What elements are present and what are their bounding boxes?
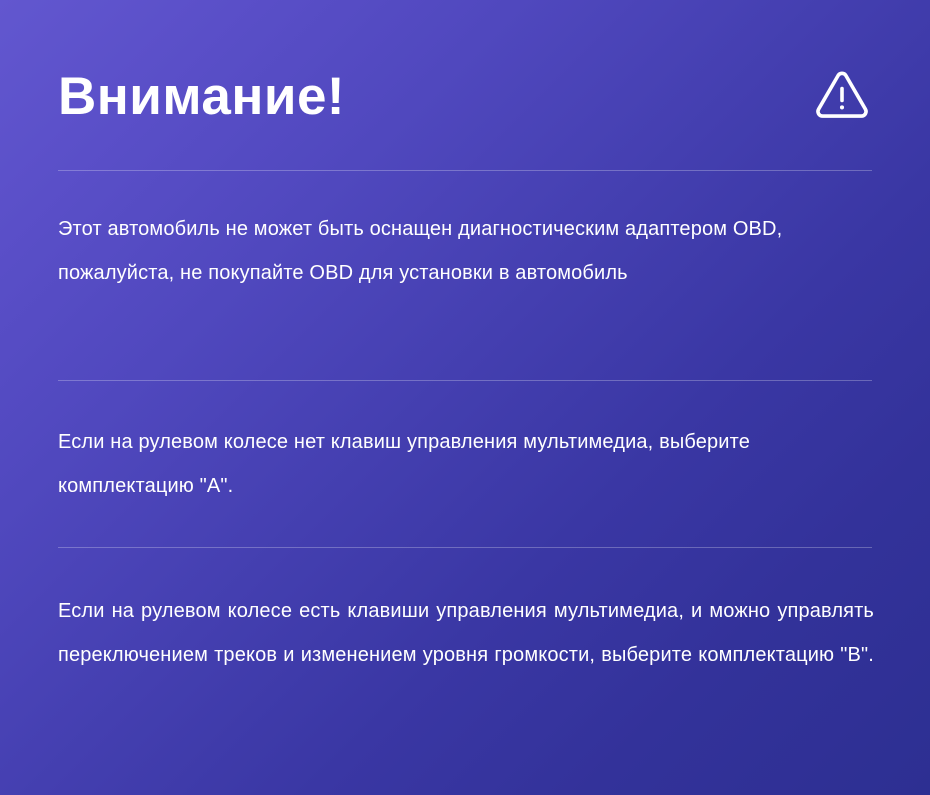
page-header: Внимание! — [58, 52, 872, 140]
divider-2 — [58, 380, 872, 381]
divider-3 — [58, 547, 872, 548]
divider-1 — [58, 170, 872, 171]
notice-text-trim-b: Если на рулевом колесе есть клавиши упра… — [58, 589, 874, 721]
warning-notice-page: Внимание! Этот автомобиль не может быть … — [0, 0, 930, 795]
warning-triangle-icon — [814, 68, 872, 124]
notice-text-obd: Этот автомобиль не может быть оснащен ди… — [58, 207, 874, 295]
page-title: Внимание! — [58, 70, 345, 123]
notice-text-trim-a: Если на рулевом колесе нет клавиш управл… — [58, 420, 874, 508]
